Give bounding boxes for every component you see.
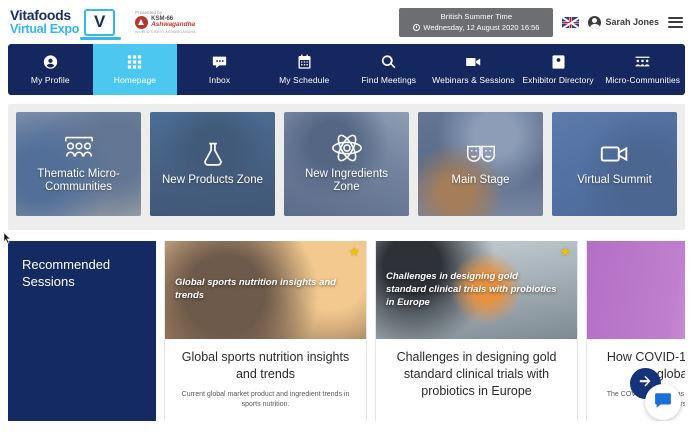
hamburger-line: [668, 26, 683, 28]
zones-section: Thematic Micro-Communities New Products …: [8, 104, 685, 230]
user-circle-icon: [42, 54, 59, 70]
hamburger-line: [668, 21, 683, 23]
avatar: [588, 16, 601, 29]
tile-label: Main Stage: [451, 174, 509, 187]
nav-item-inbox[interactable]: Inbox: [177, 44, 262, 95]
chat-bubble-icon: [654, 391, 672, 414]
search-icon: [380, 54, 397, 70]
nav-item-webinars-sessions[interactable]: Webinars & Sessions: [431, 44, 516, 95]
nav-label: Find Meetings: [361, 75, 416, 85]
session-image: [587, 241, 685, 339]
tile-label: Virtual Summit: [577, 174, 652, 187]
nav-item-micro-communities[interactable]: Micro-Communities: [600, 44, 685, 95]
tile-content: New Ingredients Zone: [284, 134, 409, 194]
recommended-sessions-panel: Recommended Sessions: [8, 241, 156, 421]
sponsor-names: KSM-66 Ashwagandha: [151, 16, 195, 29]
clock-timezone: British Summer Time: [413, 12, 539, 21]
favourite-star-icon[interactable]: ★: [559, 245, 571, 258]
user-name: Sarah Jones: [605, 17, 659, 27]
nav-item-my-profile[interactable]: My Profile: [8, 44, 93, 95]
session-title: Challenges in designing gold standard cl…: [388, 349, 565, 400]
page-header: Vitafoods Virtual Expo V Presented by KS…: [0, 0, 693, 44]
hamburger-menu-icon[interactable]: [668, 17, 683, 28]
sponsor-body: KSM-66 Ashwagandha: [135, 16, 196, 29]
session-image: ★ Global sports nutrition insights and t…: [165, 241, 366, 339]
tile-content: Virtual Summit: [569, 140, 660, 187]
session-body: Challenges in designing gold standard cl…: [376, 339, 577, 407]
sponsor-tagline: WORLD'S BEST ASHWAGANDHA: [135, 30, 196, 34]
flask-icon: [196, 140, 230, 168]
nav-item-exhibitor-directory[interactable]: Exhibitor Directory: [516, 44, 601, 95]
brand-wordmark: Vitafoods Virtual Expo: [10, 8, 79, 36]
chat-support-button[interactable]: [645, 384, 681, 420]
brand-mark-letter: V: [94, 12, 105, 32]
chat-message-icon: [211, 54, 228, 70]
brand-line-virtual-expo: Virtual Expo: [10, 23, 79, 36]
zone-tile-main-stage[interactable]: Main Stage: [418, 112, 543, 216]
zone-tile-thematic-micro-communities[interactable]: Thematic Micro-Communities: [16, 112, 141, 216]
nav-label: My Profile: [31, 75, 70, 85]
nav-item-find-meetings[interactable]: Find Meetings: [347, 44, 432, 95]
session-image-caption: Global sports nutrition insights and tre…: [175, 277, 348, 303]
session-card[interactable]: ★ Challenges in designing gold standard …: [375, 241, 578, 421]
sponsor-kicker: Presented by: [135, 10, 196, 15]
nav-label: Micro-Communities: [605, 75, 680, 85]
nav-label: My Schedule: [279, 75, 329, 85]
sponsor-logo[interactable]: Presented by KSM-66 Ashwagandha WORLD'S …: [135, 10, 196, 34]
session-image-background: [587, 241, 685, 339]
people-group-icon: [634, 54, 651, 70]
grid-icon: [126, 54, 143, 70]
main-navigation: My Profile Homepage Inbox My Schedule Fi…: [8, 44, 685, 95]
zone-tile-new-ingredients-zone[interactable]: New Ingredients Zone: [284, 112, 409, 216]
zone-tile-new-products-zone[interactable]: New Products Zone: [150, 112, 275, 216]
uk-flag-icon[interactable]: [562, 17, 579, 28]
brand-logo[interactable]: Vitafoods Virtual Expo V: [0, 8, 115, 36]
video-camera-icon: [598, 140, 632, 168]
favourite-star-icon[interactable]: ★: [348, 245, 360, 258]
tile-content: Thematic Micro-Communities: [16, 134, 141, 194]
nav-item-my-schedule[interactable]: My Schedule: [262, 44, 347, 95]
tile-label: New Products Zone: [162, 174, 263, 187]
nav-label: Webinars & Sessions: [432, 75, 515, 85]
theatre-masks-icon: [464, 140, 498, 168]
zones-tile-row: Thematic Micro-Communities New Products …: [16, 112, 677, 216]
zone-tile-virtual-summit[interactable]: Virtual Summit: [552, 112, 677, 216]
nav-label: Inbox: [209, 75, 230, 85]
atom-icon: [330, 134, 364, 162]
nav-label: Homepage: [114, 75, 156, 85]
calendar-icon: [296, 54, 313, 70]
tile-label: Thematic Micro-Communities: [24, 168, 133, 194]
sponsor-emblem-icon: [135, 16, 148, 29]
laptop-v-icon: V: [84, 9, 115, 36]
video-camera-icon: [465, 54, 482, 70]
clock-datetime-row: Wednesday, 12 August 2020 16:56: [413, 23, 539, 32]
tile-content: Main Stage: [443, 140, 517, 187]
sponsor-name-bottom: Ashwagandha: [151, 22, 195, 29]
clock-widget: British Summer Time Wednesday, 12 August…: [399, 8, 553, 37]
session-title: Global sports nutrition insights and tre…: [177, 349, 354, 383]
hamburger-line: [668, 17, 683, 19]
clock-icon: [413, 24, 420, 31]
clock-datetime: Wednesday, 12 August 2020 16:56: [423, 23, 539, 32]
contact-card-icon: [550, 54, 567, 70]
uk-flag-cross: [562, 17, 579, 28]
session-description: Current global market product and ingred…: [177, 390, 354, 410]
people-group-icon: [62, 134, 96, 162]
recommended-sessions-section: Recommended Sessions ★ Global sports nut…: [8, 241, 685, 421]
tile-content: New Products Zone: [154, 140, 271, 187]
session-body: Global sports nutrition insights and tre…: [165, 339, 366, 410]
nav-item-homepage[interactable]: Homepage: [93, 44, 178, 95]
nav-label: Exhibitor Directory: [522, 75, 593, 85]
recommended-sessions-title: Recommended Sessions: [22, 257, 142, 291]
header-right-cluster: British Summer Time Wednesday, 12 August…: [399, 8, 693, 37]
session-card[interactable]: ★ Global sports nutrition insights and t…: [164, 241, 367, 421]
session-image: ★ Challenges in designing gold standard …: [376, 241, 577, 339]
tile-label: New Ingredients Zone: [292, 168, 401, 194]
brand-line-vitafoods: Vitafoods: [10, 8, 79, 23]
session-image-caption: Challenges in designing gold standard cl…: [386, 271, 559, 309]
user-menu[interactable]: Sarah Jones: [588, 16, 659, 29]
